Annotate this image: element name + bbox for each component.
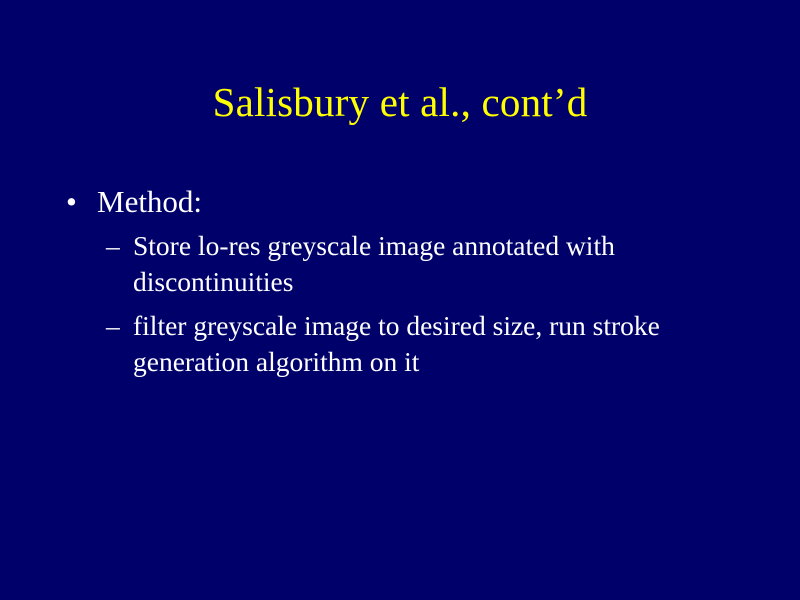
sub-bullet-item-store: – Store lo-res greyscale image annotated… [0,228,800,300]
presentation-slide: Salisbury et al., cont’d • Method: – Sto… [0,0,800,600]
dash-marker-icon: – [106,228,120,264]
sub-bullet-label: filter greyscale image to desired size, … [133,308,745,380]
bullet-marker-icon: • [66,183,77,220]
dash-marker-icon: – [106,308,120,344]
bullet-label: Method: [97,183,800,220]
sub-bullet-label: Store lo-res greyscale image annotated w… [133,228,745,300]
sub-bullet-item-filter: – filter greyscale image to desired size… [0,308,800,380]
slide-body: • Method: – Store lo-res greyscale image… [0,183,800,380]
bullet-item-method: • Method: [0,183,800,220]
slide-title: Salisbury et al., cont’d [0,78,800,126]
